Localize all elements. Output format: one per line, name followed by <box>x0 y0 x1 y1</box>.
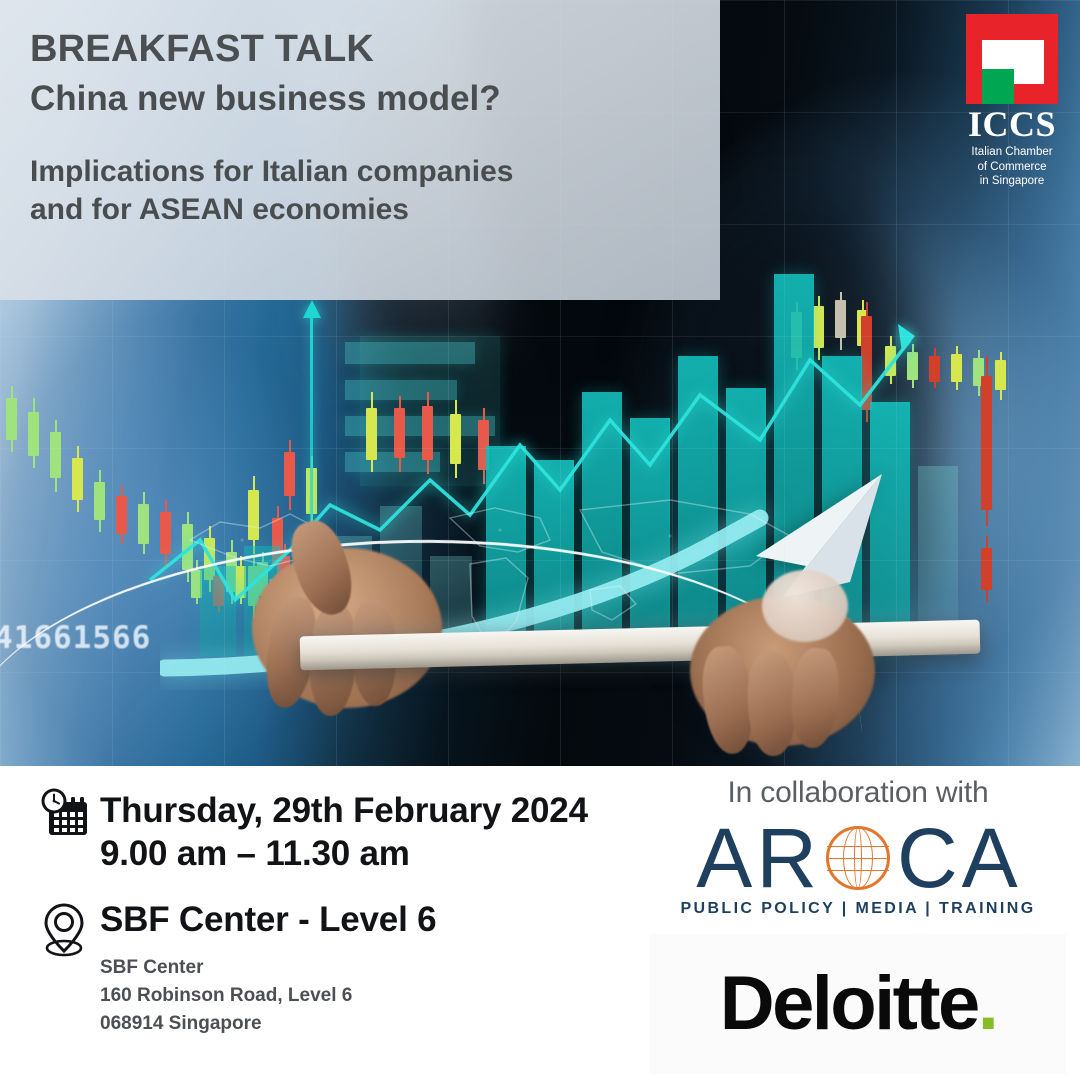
event-kicker: BREAKFAST TALK <box>30 28 690 71</box>
aroca-letter-a1: A <box>696 816 754 900</box>
collaboration-heading: In collaboration with <box>648 776 1068 810</box>
event-body-line-2: and for ASEAN economies <box>30 191 690 229</box>
thumb <box>762 570 848 642</box>
iccs-logo: ICCS Italian Chamber of Commerce in Sing… <box>958 14 1066 189</box>
iccs-green-square <box>982 69 1014 104</box>
deloitte-text: Deloitte <box>720 961 978 1046</box>
aroca-letter-a2: A <box>962 816 1020 900</box>
event-poster: 008 41661566 BREAKFAST TALK China new bu… <box>0 0 1080 1080</box>
aroca-letter-c: C <box>897 816 960 900</box>
iccs-tagline: Italian Chamber of Commerce in Singapore <box>958 145 1066 189</box>
event-location-row: SBF Center - Level 6 SBF Center 160 Robi… <box>28 901 648 1038</box>
poster-footer: Thursday, 29th February 2024 9.00 am – 1… <box>0 766 1080 1080</box>
aroca-letter-r: R <box>756 816 819 900</box>
calendar-clock-icon <box>28 788 100 842</box>
deloitte-wordmark: Deloitte. <box>720 966 996 1042</box>
event-subtitle: China new business model? <box>30 79 690 119</box>
address-line-2: 160 Robinson Road, Level 6 <box>100 982 436 1010</box>
hero-image: 008 41661566 BREAKFAST TALK China new bu… <box>0 0 1080 766</box>
event-body-line-1: Implications for Italian companies <box>30 153 690 191</box>
event-address: SBF Center 160 Robinson Road, Level 6 06… <box>100 954 436 1038</box>
collaboration-section: In collaboration with A R C A PUBLIC POL… <box>648 776 1068 918</box>
title-card: BREAKFAST TALK China new business model?… <box>0 0 720 300</box>
iccs-flag-mark-icon <box>966 14 1058 104</box>
iccs-tagline-line-3: in Singapore <box>958 174 1066 189</box>
iccs-tagline-line-1: Italian Chamber <box>958 145 1066 160</box>
event-date-row: Thursday, 29th February 2024 9.00 am – 1… <box>28 788 648 875</box>
globe-icon <box>826 826 890 890</box>
iccs-wordmark: ICCS <box>958 106 1066 142</box>
event-venue: SBF Center - Level 6 <box>100 901 436 940</box>
address-line-3: 068914 Singapore <box>100 1010 436 1038</box>
aroca-logo: A R C A PUBLIC POLICY | MEDIA | TRAINING <box>648 820 1068 918</box>
event-details: Thursday, 29th February 2024 9.00 am – 1… <box>28 788 648 1038</box>
deloitte-logo: Deloitte. <box>650 934 1066 1074</box>
map-pin-icon <box>28 901 100 959</box>
address-line-1: SBF Center <box>100 954 436 982</box>
aroca-wordmark: A R C A <box>648 820 1068 896</box>
event-date: Thursday, 29th February 2024 <box>100 790 588 833</box>
event-time: 9.00 am – 11.30 am <box>100 833 588 876</box>
deloitte-green-dot: . <box>978 961 997 1046</box>
iccs-tagline-line-2: of Commerce <box>958 160 1066 175</box>
hero-ticker-number: 41661566 <box>0 620 151 656</box>
